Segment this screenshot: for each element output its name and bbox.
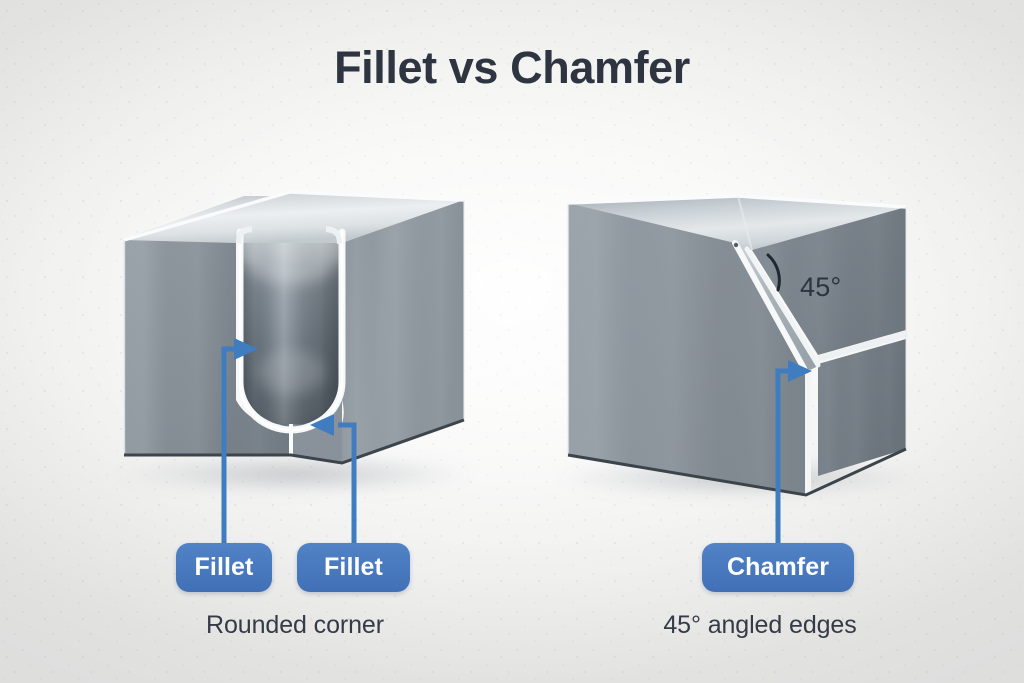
- fillet-slot-interior: [239, 216, 343, 427]
- blocks-illustration: [0, 0, 1024, 683]
- caption-chamfer: 45° angled edges: [570, 611, 950, 640]
- page-title: Fillet vs Chamfer: [0, 42, 1024, 94]
- caption-fillet: Rounded corner: [110, 611, 480, 640]
- badge-fillet-2[interactable]: Fillet: [297, 543, 410, 592]
- diagram-canvas: Fillet vs Chamfer: [0, 0, 1024, 683]
- fillet-block-shadow: [115, 454, 475, 494]
- angle-annotation-45: 45°: [800, 272, 841, 303]
- bevel-vertex-top: [734, 243, 738, 247]
- chamfer-block-group: [555, 196, 925, 498]
- badge-chamfer[interactable]: Chamfer: [702, 543, 854, 592]
- badge-fillet-1[interactable]: Fillet: [176, 543, 272, 592]
- fillet-block-group: [115, 192, 475, 494]
